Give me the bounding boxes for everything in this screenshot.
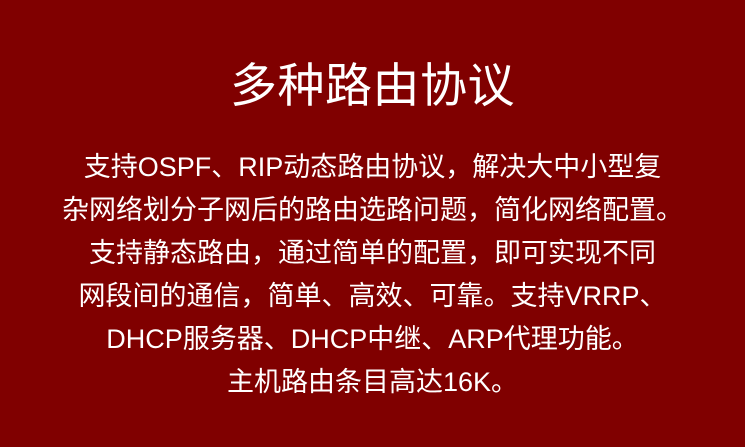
feature-banner: 多种路由协议 支持OSPF、RIP动态路由协议，解决大中小型复 杂网络划分子网后… <box>0 0 745 447</box>
description-line: 主机路由条目高达16K。 <box>0 361 745 404</box>
feature-description: 支持OSPF、RIP动态路由协议，解决大中小型复 杂网络划分子网后的路由选路问题… <box>0 146 745 404</box>
description-line: 网段间的通信，简单、高效、可靠。支持VRRP、 <box>0 275 745 318</box>
description-line: DHCP服务器、DHCP中继、ARP代理功能。 <box>0 318 745 361</box>
description-line: 支持静态路由，通过简单的配置，即可实现不同 <box>0 232 745 275</box>
description-line: 支持OSPF、RIP动态路由协议，解决大中小型复 <box>0 146 745 189</box>
page-title: 多种路由协议 <box>0 58 745 114</box>
description-line: 杂网络划分子网后的路由选路问题，简化网络配置。 <box>0 189 745 232</box>
